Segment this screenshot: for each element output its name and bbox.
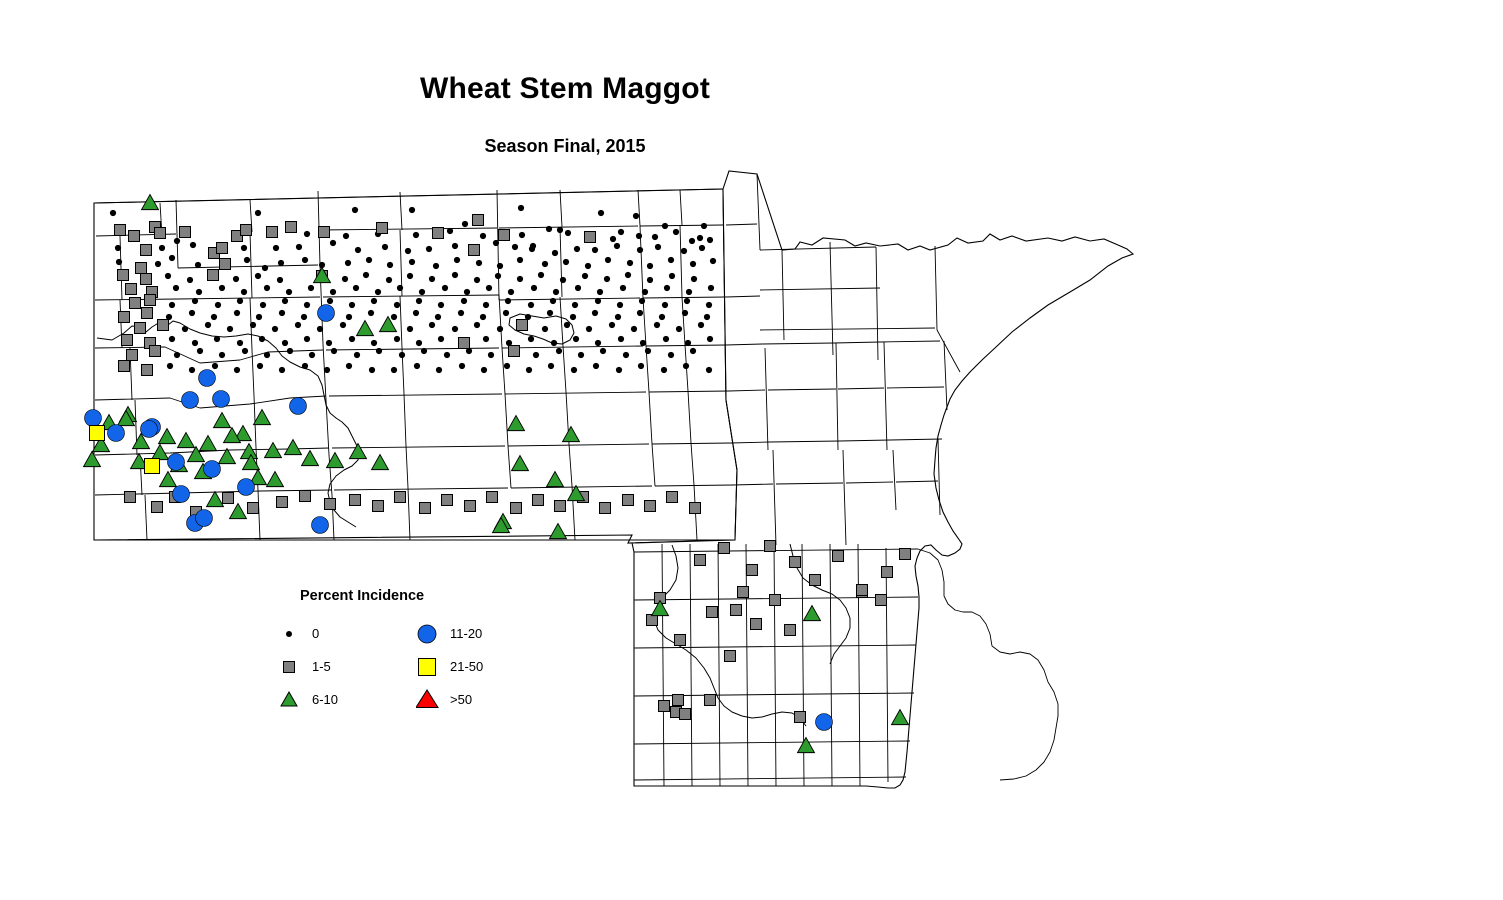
incidence-point[interactable] (555, 501, 566, 512)
incidence-point[interactable] (705, 695, 716, 706)
incidence-point[interactable] (155, 228, 166, 239)
incidence-point[interactable] (233, 276, 239, 282)
incidence-point[interactable] (319, 227, 330, 238)
incidence-point[interactable] (686, 289, 692, 295)
incidence-point[interactable] (531, 285, 537, 291)
incidence-point[interactable] (136, 263, 147, 274)
incidence-point[interactable] (304, 302, 310, 308)
incidence-point[interactable] (190, 242, 196, 248)
incidence-point[interactable] (304, 336, 310, 342)
incidence-point[interactable] (452, 272, 458, 278)
incidence-point[interactable] (208, 270, 219, 281)
incidence-point[interactable] (394, 302, 400, 308)
incidence-point[interactable] (429, 276, 435, 282)
incidence-point[interactable] (645, 501, 656, 512)
incidence-point[interactable] (473, 215, 484, 226)
incidence-point[interactable] (223, 493, 234, 504)
incidence-point[interactable] (469, 245, 480, 256)
incidence-point[interactable] (433, 263, 439, 269)
incidence-point[interactable] (376, 348, 382, 354)
incidence-point[interactable] (282, 340, 288, 346)
incidence-point[interactable] (689, 238, 695, 244)
incidence-point[interactable] (592, 310, 598, 316)
incidence-point[interactable] (169, 255, 175, 261)
incidence-point[interactable] (302, 363, 308, 369)
incidence-point[interactable] (503, 310, 509, 316)
incidence-point[interactable] (708, 285, 714, 291)
incidence-point[interactable] (290, 398, 307, 415)
incidence-point[interactable] (533, 352, 539, 358)
incidence-point[interactable] (458, 310, 464, 316)
incidence-point[interactable] (435, 314, 441, 320)
incidence-point[interactable] (563, 259, 569, 265)
incidence-point[interactable] (476, 260, 482, 266)
incidence-point[interactable] (452, 243, 458, 249)
incidence-point[interactable] (212, 363, 218, 369)
incidence-point[interactable] (508, 289, 514, 295)
incidence-point[interactable] (585, 232, 596, 243)
incidence-point[interactable] (553, 289, 559, 295)
incidence-point[interactable] (150, 346, 161, 357)
incidence-point[interactable] (695, 555, 706, 566)
incidence-point[interactable] (118, 270, 129, 281)
incidence-point[interactable] (447, 228, 453, 234)
incidence-point[interactable] (264, 285, 270, 291)
incidence-point[interactable] (659, 701, 670, 712)
incidence-point[interactable] (691, 276, 697, 282)
incidence-point[interactable] (255, 273, 261, 279)
incidence-point[interactable] (505, 298, 511, 304)
incidence-point[interactable] (343, 233, 349, 239)
incidence-point[interactable] (731, 605, 742, 616)
state-map-svg[interactable] (0, 0, 1503, 900)
incidence-point[interactable] (371, 340, 377, 346)
incidence-point[interactable] (391, 314, 397, 320)
incidence-point[interactable] (627, 260, 633, 266)
incidence-point[interactable] (684, 298, 690, 304)
incidence-point[interactable] (519, 232, 525, 238)
incidence-point[interactable] (597, 289, 603, 295)
incidence-point[interactable] (405, 248, 411, 254)
incidence-point[interactable] (413, 232, 419, 238)
incidence-point[interactable] (698, 322, 704, 328)
incidence-point[interactable] (141, 421, 158, 438)
incidence-point[interactable] (302, 257, 308, 263)
incidence-point[interactable] (900, 549, 911, 560)
incidence-point[interactable] (213, 391, 230, 408)
incidence-point[interactable] (391, 367, 397, 373)
incidence-point[interactable] (565, 230, 571, 236)
incidence-point[interactable] (593, 363, 599, 369)
incidence-point[interactable] (486, 285, 492, 291)
incidence-point[interactable] (461, 298, 467, 304)
incidence-point[interactable] (330, 240, 336, 246)
incidence-point[interactable] (327, 298, 333, 304)
incidence-point[interactable] (277, 277, 283, 283)
incidence-point[interactable] (295, 322, 301, 328)
incidence-point[interactable] (331, 348, 337, 354)
incidence-point[interactable] (662, 302, 668, 308)
incidence-point[interactable] (377, 223, 388, 234)
incidence-point[interactable] (354, 352, 360, 358)
incidence-point[interactable] (119, 361, 130, 372)
incidence-point[interactable] (465, 501, 476, 512)
incidence-point[interactable] (481, 367, 487, 373)
incidence-point[interactable] (578, 352, 584, 358)
incidence-point[interactable] (504, 363, 510, 369)
incidence-point[interactable] (454, 257, 460, 263)
incidence-point[interactable] (317, 326, 323, 332)
incidence-point[interactable] (409, 259, 415, 265)
incidence-point[interactable] (639, 298, 645, 304)
incidence-point[interactable] (375, 289, 381, 295)
incidence-point[interactable] (250, 322, 256, 328)
incidence-point[interactable] (637, 247, 643, 253)
incidence-point[interactable] (738, 587, 749, 598)
incidence-point[interactable] (661, 367, 667, 373)
incidence-point[interactable] (480, 233, 486, 239)
incidence-point[interactable] (647, 615, 658, 626)
incidence-point[interactable] (168, 454, 185, 471)
incidence-point[interactable] (707, 607, 718, 618)
incidence-point[interactable] (287, 348, 293, 354)
incidence-point[interactable] (680, 709, 691, 720)
incidence-point[interactable] (573, 336, 579, 342)
incidence-point[interactable] (528, 336, 534, 342)
incidence-point[interactable] (654, 322, 660, 328)
incidence-point[interactable] (259, 336, 265, 342)
incidence-point[interactable] (419, 289, 425, 295)
incidence-point[interactable] (145, 459, 160, 474)
incidence-point[interactable] (517, 276, 523, 282)
incidence-point[interactable] (623, 352, 629, 358)
incidence-point[interactable] (108, 425, 125, 442)
incidence-point[interactable] (751, 619, 762, 630)
incidence-point[interactable] (790, 557, 801, 568)
incidence-point[interactable] (394, 336, 400, 342)
map-canvas[interactable] (0, 0, 1503, 900)
incidence-point[interactable] (636, 233, 642, 239)
incidence-point[interactable] (192, 298, 198, 304)
incidence-point[interactable] (546, 226, 552, 232)
incidence-point[interactable] (605, 257, 611, 263)
incidence-point[interactable] (511, 503, 522, 514)
incidence-point[interactable] (126, 284, 137, 295)
incidence-point[interactable] (286, 289, 292, 295)
incidence-point[interactable] (464, 289, 470, 295)
incidence-point[interactable] (683, 363, 689, 369)
incidence-point[interactable] (141, 245, 152, 256)
incidence-point[interactable] (345, 260, 351, 266)
incidence-point[interactable] (397, 285, 403, 291)
incidence-point[interactable] (90, 426, 105, 441)
incidence-point[interactable] (167, 363, 173, 369)
incidence-point[interactable] (615, 314, 621, 320)
incidence-point[interactable] (673, 229, 679, 235)
incidence-point[interactable] (582, 273, 588, 279)
incidence-point[interactable] (312, 517, 329, 534)
incidence-point[interactable] (318, 305, 335, 322)
incidence-point[interactable] (652, 234, 658, 240)
incidence-point[interactable] (119, 312, 130, 323)
incidence-point[interactable] (189, 367, 195, 373)
incidence-point[interactable] (620, 285, 626, 291)
incidence-point[interactable] (350, 495, 361, 506)
incidence-point[interactable] (497, 263, 503, 269)
incidence-point[interactable] (564, 322, 570, 328)
incidence-point[interactable] (326, 340, 332, 346)
incidence-point[interactable] (211, 314, 217, 320)
incidence-point[interactable] (770, 595, 781, 606)
incidence-point[interactable] (474, 277, 480, 283)
incidence-point[interactable] (413, 310, 419, 316)
incidence-point[interactable] (399, 352, 405, 358)
incidence-point[interactable] (255, 210, 261, 216)
incidence-point[interactable] (571, 367, 577, 373)
incidence-point[interactable] (142, 308, 153, 319)
incidence-point[interactable] (416, 298, 422, 304)
incidence-point[interactable] (237, 298, 243, 304)
incidence-point[interactable] (352, 207, 358, 213)
incidence-point[interactable] (286, 222, 297, 233)
incidence-point[interactable] (309, 352, 315, 358)
incidence-point[interactable] (173, 486, 190, 503)
incidence-point[interactable] (616, 367, 622, 373)
incidence-point[interactable] (192, 340, 198, 346)
incidence-point[interactable] (600, 348, 606, 354)
incidence-point[interactable] (459, 338, 470, 349)
incidence-point[interactable] (676, 326, 682, 332)
incidence-point[interactable] (655, 244, 661, 250)
incidence-point[interactable] (110, 210, 116, 216)
incidence-point[interactable] (220, 259, 231, 270)
incidence-point[interactable] (462, 221, 468, 227)
incidence-point[interactable] (355, 247, 361, 253)
incidence-point[interactable] (685, 340, 691, 346)
incidence-point[interactable] (598, 210, 604, 216)
incidence-point[interactable] (640, 340, 646, 346)
incidence-point[interactable] (638, 363, 644, 369)
incidence-point[interactable] (618, 229, 624, 235)
incidence-point[interactable] (668, 257, 674, 263)
incidence-point[interactable] (353, 285, 359, 291)
incidence-point[interactable] (214, 336, 220, 342)
incidence-point[interactable] (195, 262, 201, 268)
incidence-point[interactable] (349, 336, 355, 342)
incidence-point[interactable] (876, 595, 887, 606)
incidence-point[interactable] (85, 410, 102, 427)
incidence-point[interactable] (585, 263, 591, 269)
incidence-point[interactable] (609, 322, 615, 328)
incidence-point[interactable] (816, 714, 833, 731)
incidence-point[interactable] (237, 340, 243, 346)
incidence-point[interactable] (217, 243, 228, 254)
incidence-point[interactable] (267, 227, 278, 238)
incidence-point[interactable] (690, 261, 696, 267)
incidence-point[interactable] (199, 370, 216, 387)
incidence-point[interactable] (747, 565, 758, 576)
incidence-point[interactable] (182, 392, 199, 409)
incidence-point[interactable] (429, 322, 435, 328)
incidence-point[interactable] (129, 231, 140, 242)
incidence-point[interactable] (528, 302, 534, 308)
incidence-point[interactable] (244, 257, 250, 263)
incidence-point[interactable] (663, 336, 669, 342)
incidence-point[interactable] (135, 323, 146, 334)
incidence-point[interactable] (416, 340, 422, 346)
incidence-point[interactable] (706, 367, 712, 373)
incidence-point[interactable] (324, 367, 330, 373)
incidence-point[interactable] (234, 367, 240, 373)
incidence-point[interactable] (368, 310, 374, 316)
incidence-point[interactable] (373, 501, 384, 512)
incidence-point[interactable] (488, 352, 494, 358)
incidence-point[interactable] (556, 348, 562, 354)
incidence-point[interactable] (142, 365, 153, 376)
incidence-point[interactable] (707, 336, 713, 342)
incidence-point[interactable] (595, 340, 601, 346)
incidence-point[interactable] (115, 225, 126, 236)
incidence-point[interactable] (497, 326, 503, 332)
incidence-point[interactable] (690, 348, 696, 354)
incidence-point[interactable] (426, 246, 432, 252)
incidence-point[interactable] (241, 225, 252, 236)
incidence-point[interactable] (300, 491, 311, 502)
incidence-point[interactable] (474, 322, 480, 328)
incidence-point[interactable] (382, 244, 388, 250)
incidence-point[interactable] (248, 503, 259, 514)
incidence-point[interactable] (187, 277, 193, 283)
incidence-point[interactable] (710, 258, 716, 264)
incidence-point[interactable] (810, 575, 821, 586)
incidence-point[interactable] (857, 585, 868, 596)
incidence-point[interactable] (697, 235, 703, 241)
incidence-point[interactable] (610, 236, 616, 242)
incidence-point[interactable] (433, 228, 444, 239)
incidence-point[interactable] (668, 352, 674, 358)
incidence-point[interactable] (387, 262, 393, 268)
incidence-point[interactable] (444, 352, 450, 358)
incidence-point[interactable] (483, 302, 489, 308)
incidence-point[interactable] (256, 314, 262, 320)
incidence-point[interactable] (189, 310, 195, 316)
incidence-point[interactable] (575, 285, 581, 291)
incidence-point[interactable] (483, 336, 489, 342)
incidence-point[interactable] (272, 326, 278, 332)
incidence-point[interactable] (542, 326, 548, 332)
incidence-point[interactable] (125, 492, 136, 503)
incidence-point[interactable] (625, 272, 631, 278)
incidence-point[interactable] (664, 285, 670, 291)
incidence-point[interactable] (600, 503, 611, 514)
incidence-point[interactable] (349, 302, 355, 308)
incidence-point[interactable] (795, 712, 806, 723)
incidence-point[interactable] (241, 245, 247, 251)
incidence-point[interactable] (645, 348, 651, 354)
incidence-point[interactable] (262, 265, 268, 271)
incidence-point[interactable] (574, 246, 580, 252)
incidence-point[interactable] (264, 352, 270, 358)
incidence-point[interactable] (180, 227, 191, 238)
incidence-point[interactable] (442, 495, 453, 506)
incidence-point[interactable] (681, 248, 687, 254)
incidence-point[interactable] (642, 289, 648, 295)
incidence-point[interactable] (725, 651, 736, 662)
incidence-point[interactable] (227, 326, 233, 332)
incidence-point[interactable] (647, 263, 653, 269)
incidence-point[interactable] (707, 237, 713, 243)
incidence-point[interactable] (174, 238, 180, 244)
incidence-point[interactable] (421, 348, 427, 354)
incidence-point[interactable] (407, 326, 413, 332)
incidence-point[interactable] (882, 567, 893, 578)
incidence-point[interactable] (366, 257, 372, 263)
incidence-point[interactable] (438, 302, 444, 308)
incidence-point[interactable] (552, 250, 558, 256)
incidence-point[interactable] (165, 273, 171, 279)
incidence-point[interactable] (330, 289, 336, 295)
incidence-point[interactable] (238, 479, 255, 496)
incidence-point[interactable] (196, 289, 202, 295)
incidence-point[interactable] (197, 348, 203, 354)
incidence-point[interactable] (673, 695, 684, 706)
incidence-point[interactable] (538, 272, 544, 278)
incidence-point[interactable] (395, 492, 406, 503)
incidence-point[interactable] (701, 223, 707, 229)
incidence-point[interactable] (182, 326, 188, 332)
incidence-point[interactable] (386, 277, 392, 283)
incidence-point[interactable] (279, 367, 285, 373)
incidence-point[interactable] (631, 326, 637, 332)
incidence-point[interactable] (442, 285, 448, 291)
incidence-point[interactable] (517, 257, 523, 263)
incidence-point[interactable] (116, 259, 122, 265)
incidence-point[interactable] (548, 363, 554, 369)
incidence-point[interactable] (409, 207, 415, 213)
incidence-point[interactable] (273, 245, 279, 251)
incidence-point[interactable] (517, 320, 528, 331)
incidence-point[interactable] (614, 243, 620, 249)
incidence-point[interactable] (205, 322, 211, 328)
incidence-point[interactable] (407, 273, 413, 279)
incidence-point[interactable] (130, 298, 141, 309)
incidence-point[interactable] (169, 302, 175, 308)
incidence-point[interactable] (173, 285, 179, 291)
incidence-point[interactable] (296, 244, 302, 250)
incidence-point[interactable] (363, 272, 369, 278)
incidence-point[interactable] (647, 277, 653, 283)
incidence-point[interactable] (487, 492, 498, 503)
incidence-point[interactable] (325, 499, 336, 510)
incidence-point[interactable] (219, 352, 225, 358)
incidence-point[interactable] (512, 244, 518, 250)
incidence-point[interactable] (196, 510, 213, 527)
incidence-point[interactable] (278, 260, 284, 266)
incidence-point[interactable] (346, 314, 352, 320)
incidence-point[interactable] (595, 298, 601, 304)
incidence-point[interactable] (304, 231, 310, 237)
incidence-point[interactable] (547, 310, 553, 316)
incidence-point[interactable] (371, 298, 377, 304)
incidence-point[interactable] (662, 223, 668, 229)
incidence-point[interactable] (570, 314, 576, 320)
incidence-point[interactable] (592, 247, 598, 253)
incidence-point[interactable] (169, 336, 175, 342)
incidence-point[interactable] (659, 314, 665, 320)
incidence-point[interactable] (234, 310, 240, 316)
incidence-point[interactable] (623, 495, 634, 506)
incidence-point[interactable] (560, 277, 566, 283)
